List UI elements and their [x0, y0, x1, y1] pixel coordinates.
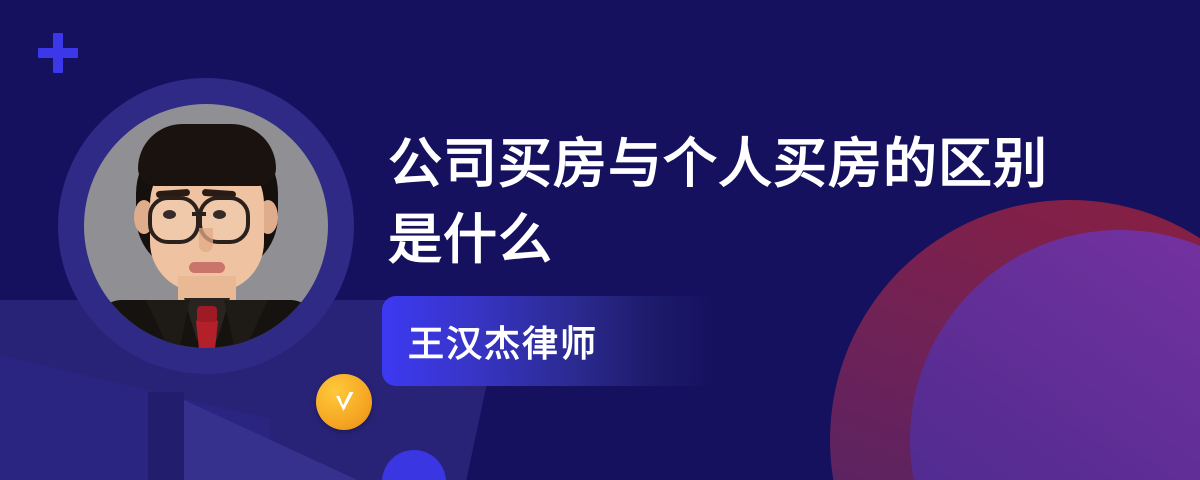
portrait-mouth [189, 262, 225, 273]
lawyer-article-banner: 公司买房与个人买房的区别是什么 王汉杰律师 [0, 0, 1200, 480]
avatar[interactable] [58, 78, 354, 374]
article-title: 公司买房与个人买房的区别是什么 [388, 126, 1088, 278]
banner-content: 公司买房与个人买房的区别是什么 王汉杰律师 [388, 0, 1108, 480]
decorative-seam-stripe [148, 392, 184, 480]
portrait-lapel-right [224, 300, 268, 348]
lawyer-name-label: 王汉杰律师 [382, 315, 598, 367]
verified-badge-icon [316, 374, 372, 430]
plus-icon-vertical-bar [53, 33, 63, 73]
portrait-glasses-left-lens [148, 196, 200, 244]
portrait-nose [199, 228, 213, 252]
lawyer-name-badge[interactable]: 王汉杰律师 [382, 296, 716, 386]
portrait-hair-fringe [138, 124, 276, 186]
plus-icon [38, 33, 78, 73]
portrait-glasses-bridge [192, 212, 206, 216]
portrait-lapel-left [146, 300, 190, 348]
portrait-necktie-knot [197, 306, 217, 322]
avatar-photo [84, 104, 328, 348]
